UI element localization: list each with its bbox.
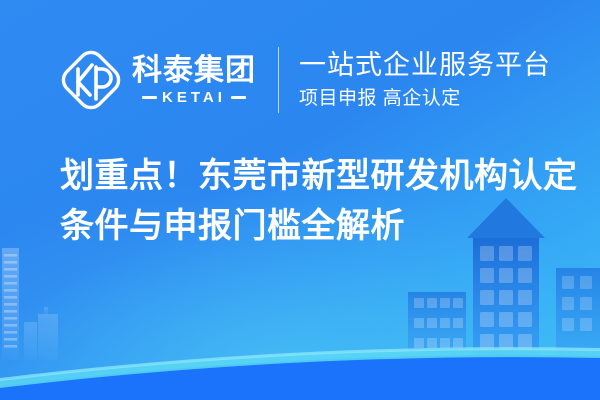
logo-dash-right-icon [231,96,246,99]
logo-english-name: KETAI [162,90,226,105]
tagline-block: 一站式企业服务平台 项目申报 高企认定 [299,50,551,111]
header-divider [278,47,279,113]
ketai-kp-monogram-icon [56,45,126,115]
logo-dash-left-icon [142,96,157,99]
tagline-secondary: 项目申报 高企认定 [299,88,551,111]
tagline-primary: 一站式企业服务平台 [299,50,551,81]
logo-chinese-name: 科泰集团 [132,55,256,87]
bottom-curve-band [0,310,600,400]
promo-banner: 科泰集团 KETAI 一站式企业服务平台 项目申报 高企认定 划重点！东莞市新型… [0,0,600,400]
page-title: 划重点！东莞市新型研发机构认定 条件与申报门槛全解析 [60,152,565,252]
title-line-2: 条件与申报门槛全解析 [60,202,565,252]
title-line-1: 划重点！东莞市新型研发机构认定 [60,152,565,202]
logo-english-row: KETAI [142,90,246,105]
logo-wordmark: 科泰集团 KETAI [132,55,256,105]
brand-header: 科泰集团 KETAI 一站式企业服务平台 项目申报 高企认定 [56,38,551,122]
